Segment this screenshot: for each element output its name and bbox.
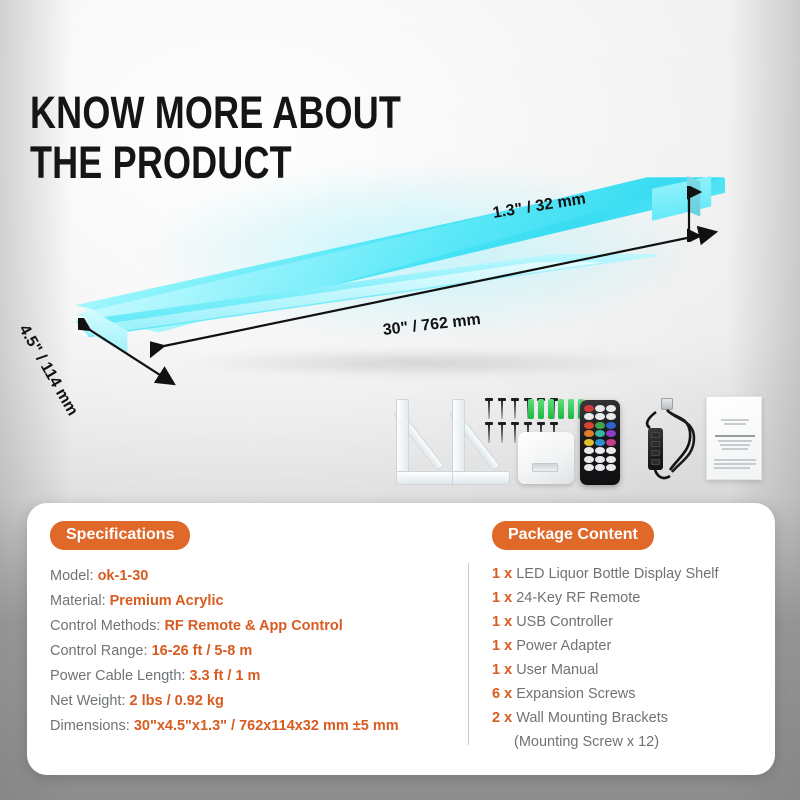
spec-row: Net Weight: 2 lbs / 0.92 kg <box>50 689 465 714</box>
spec-value: 30"x4.5"x1.3" / 762x114x32 mm ±5 mm <box>134 718 399 734</box>
spec-label: Net Weight: <box>50 693 126 709</box>
package-content-list: 1 x LED Liquor Bottle Display Shelf 1 x … <box>492 562 762 730</box>
specifications-title: Specifications <box>50 521 190 550</box>
spec-value: 3.3 ft / 1 m <box>189 668 260 684</box>
item-qty: 6 x <box>492 686 512 702</box>
spec-row: Control Range: 16-26 ft / 5-8 m <box>50 639 465 664</box>
list-item: 1 x 24-Key RF Remote <box>492 586 762 610</box>
spec-value: 2 lbs / 0.92 kg <box>130 693 224 709</box>
list-item: 1 x User Manual <box>492 658 762 682</box>
specifications-section: Specifications Model: ok-1-30 Material: … <box>50 521 465 739</box>
info-card: Specifications Model: ok-1-30 Material: … <box>27 503 775 775</box>
spec-row: Dimensions: 30"x4.5"x1.3" / 762x114x32 m… <box>50 714 465 739</box>
package-content-section: Package Content 1 x LED Liquor Bottle Di… <box>492 521 762 754</box>
spec-value: Premium Acrylic <box>110 593 224 609</box>
card-divider <box>468 563 469 745</box>
package-content-title: Package Content <box>492 521 654 550</box>
list-item: 1 x USB Controller <box>492 610 762 634</box>
item-name: 24-Key RF Remote <box>516 590 640 606</box>
spec-label: Control Range: <box>50 643 148 659</box>
item-qty: 1 x <box>492 590 512 606</box>
spec-value: 16-26 ft / 5-8 m <box>152 643 253 659</box>
item-name: Wall Mounting Brackets <box>516 710 668 726</box>
spec-row: Control Methods: RF Remote & App Control <box>50 614 465 639</box>
item-qty: 1 x <box>492 614 512 630</box>
item-qty: 1 x <box>492 662 512 678</box>
spec-label: Control Methods: <box>50 618 160 634</box>
item-name: User Manual <box>516 662 598 678</box>
item-name: Expansion Screws <box>516 686 635 702</box>
spec-row: Model: ok-1-30 <box>50 564 465 589</box>
item-name: LED Liquor Bottle Display Shelf <box>516 566 718 582</box>
dimension-arrow-length <box>150 218 730 358</box>
spec-label: Power Cable Length: <box>50 668 185 684</box>
spec-label: Dimensions: <box>50 718 130 734</box>
list-item: 1 x Power Adapter <box>492 634 762 658</box>
item-name: Power Adapter <box>516 638 611 654</box>
specifications-list: Model: ok-1-30 Material: Premium Acrylic… <box>50 564 465 739</box>
list-item: 1 x LED Liquor Bottle Display Shelf <box>492 562 762 586</box>
item-qty: 1 x <box>492 566 512 582</box>
package-content-note: (Mounting Screw x 12) <box>492 730 762 754</box>
item-name: USB Controller <box>516 614 613 630</box>
dimension-arrow-depth <box>78 318 188 398</box>
list-item: 2 x Wall Mounting Brackets <box>492 706 762 730</box>
list-item: 6 x Expansion Screws <box>492 682 762 706</box>
spec-value: RF Remote & App Control <box>164 618 342 634</box>
spec-row: Material: Premium Acrylic <box>50 589 465 614</box>
spec-value: ok-1-30 <box>98 568 149 584</box>
spec-label: Material: <box>50 593 106 609</box>
spec-label: Model: <box>50 568 94 584</box>
item-qty: 2 x <box>492 710 512 726</box>
item-qty: 1 x <box>492 638 512 654</box>
spec-row: Power Cable Length: 3.3 ft / 1 m <box>50 664 465 689</box>
infographic-canvas: KNOW MORE ABOUT THE PRODUCT 1.3" / 32 mm… <box>0 0 800 800</box>
